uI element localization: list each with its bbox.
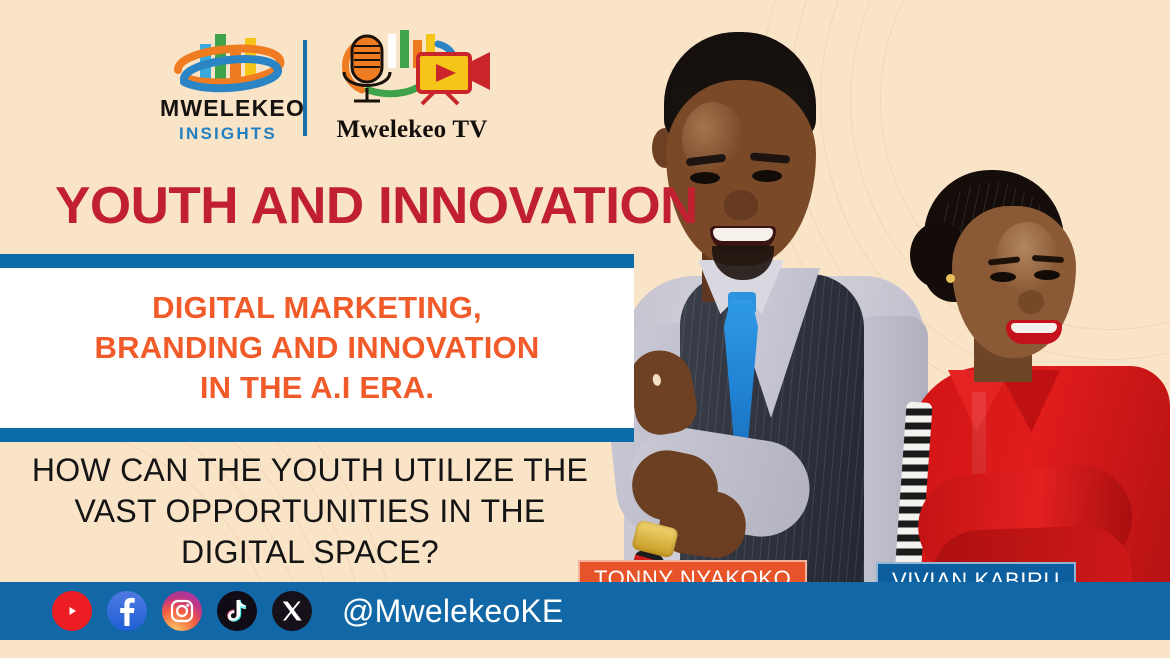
social-handle: @MwelekeoKE xyxy=(342,593,563,630)
social-icon-row xyxy=(52,591,312,631)
webinar-promo-poster: MWELEKEO INSIGHTS xyxy=(0,0,1170,658)
banner-line-1: DIGITAL MARKETING, xyxy=(152,290,482,326)
banner-rule-top xyxy=(0,254,634,268)
banner-sheet: DIGITAL MARKETING, BRANDING AND INNOVATI… xyxy=(0,268,634,428)
microphone-camera-icon xyxy=(322,28,502,102)
tv-wordmark: Mwelekeo TV xyxy=(322,116,502,144)
mwelekeo-tv-logo[interactable]: Mwelekeo TV xyxy=(322,28,502,148)
x-icon[interactable] xyxy=(272,591,312,631)
banner-line-3: IN THE A.I ERA. xyxy=(200,370,434,406)
header-logos: MWELEKEO INSIGHTS xyxy=(0,18,600,146)
bar-chart-swoosh-icon xyxy=(160,26,296,100)
question-text: HOW CAN THE YOUTH UTILIZE THE VAST OPPOR… xyxy=(0,450,620,573)
logo-divider xyxy=(303,40,307,136)
topic-banner: DIGITAL MARKETING, BRANDING AND INNOVATI… xyxy=(0,254,634,442)
youtube-icon[interactable] xyxy=(52,591,92,631)
tiktok-icon[interactable] xyxy=(217,591,257,631)
instagram-icon[interactable] xyxy=(162,591,202,631)
question-line-3: DIGITAL SPACE? xyxy=(0,532,620,573)
insights-wordmark: MWELEKEO xyxy=(160,95,296,122)
banner-rule-bottom xyxy=(0,428,634,442)
page-title: YOUTH AND INNOVATION xyxy=(55,176,698,236)
banner-line-2: BRANDING AND INNOVATION xyxy=(95,330,540,366)
question-line-1: HOW CAN THE YOUTH UTILIZE THE xyxy=(0,450,620,491)
mwelekeo-insights-logo[interactable]: MWELEKEO INSIGHTS xyxy=(160,26,296,146)
question-line-2: VAST OPPORTUNITIES IN THE xyxy=(0,491,620,532)
social-footer-bar: @MwelekeoKE xyxy=(0,582,1170,640)
footer-base-strip xyxy=(0,640,1170,658)
photo-tonny-nyakoko xyxy=(606,24,936,636)
facebook-icon[interactable] xyxy=(107,591,147,631)
insights-subwordmark: INSIGHTS xyxy=(160,124,296,144)
